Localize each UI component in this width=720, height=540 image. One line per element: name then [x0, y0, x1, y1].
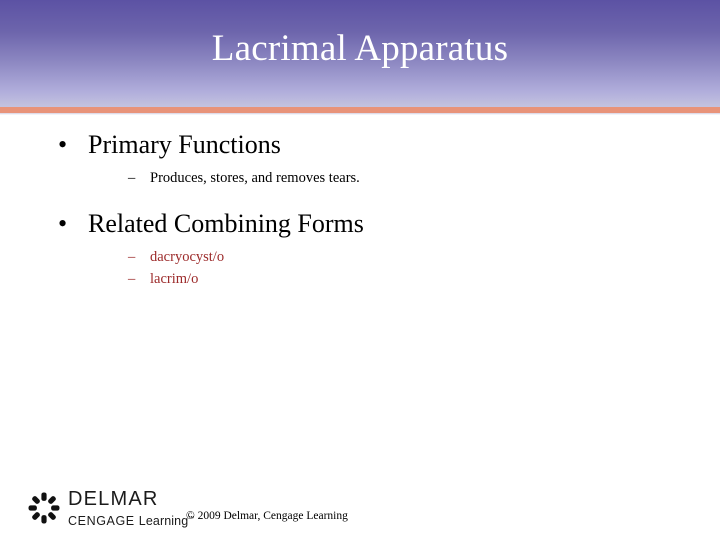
bullet-dash-icon: – [128, 246, 135, 268]
bullet-group-primary-functions: • Primary Functions – Produces, stores, … [0, 128, 720, 189]
bullet-group-related-combining-forms: • Related Combining Forms – dacryocyst/o… [0, 207, 720, 290]
bullet-dot-icon: • [58, 128, 67, 162]
bullet-level2-label: lacrim/o [150, 271, 198, 287]
page-title: Lacrimal Apparatus [0, 27, 720, 71]
bullet-level1-label: Primary Functions [88, 130, 281, 159]
logo-cengage-text: CENGAGE [68, 514, 135, 528]
logo-wordmark: DELMAR CENGAGE Learning™ [68, 489, 195, 528]
bullet-item-level2: – Produces, stores, and removes tears. [0, 167, 720, 189]
bullet-item-level1: • Primary Functions [0, 128, 720, 162]
header-accent-bar-shadow [0, 113, 720, 115]
bullet-item-level1: • Related Combining Forms [0, 207, 720, 241]
copyright-notice: © 2009 Delmar, Cengage Learning [186, 509, 348, 523]
bullet-item-level2: – lacrim/o [0, 268, 720, 290]
bullet-level1-label: Related Combining Forms [88, 209, 364, 238]
delmar-cengage-logo: DELMAR CENGAGE Learning™ [24, 487, 194, 529]
slide-content: • Primary Functions – Produces, stores, … [0, 128, 720, 290]
logo-learning-text: Learning [139, 514, 188, 528]
bullet-dash-icon: – [128, 167, 135, 189]
bullet-level2-label: Produces, stores, and removes tears. [150, 170, 360, 186]
bullet-item-level2: – dacryocyst/o [0, 246, 720, 268]
bullet-level2-label: dacryocyst/o [150, 249, 224, 265]
logo-cengage-line: CENGAGE Learning™ [68, 512, 195, 528]
pinwheel-logo-icon [24, 488, 64, 528]
bullet-dash-icon: – [128, 268, 135, 290]
logo-delmar-text: DELMAR [68, 488, 159, 510]
slide-header-banner: Lacrimal Apparatus [0, 0, 720, 107]
bullet-dot-icon: • [58, 207, 67, 241]
spacer [0, 189, 720, 207]
